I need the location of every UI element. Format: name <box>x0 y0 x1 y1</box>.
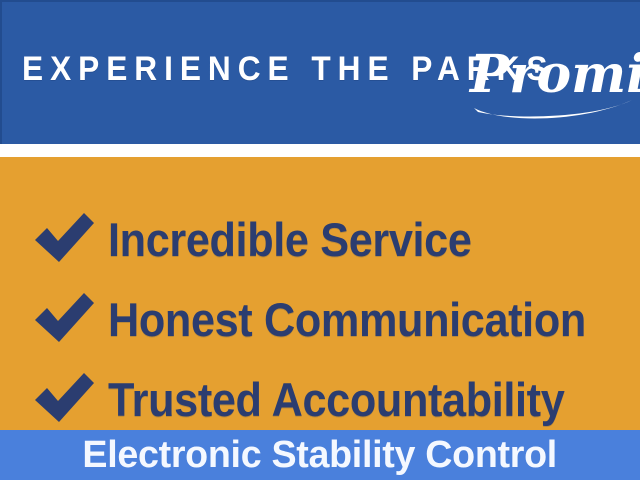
banner-headline-script-wrap: Promise <box>464 38 640 124</box>
promise-item: Honest Communication <box>0 279 640 359</box>
promise-item: Incredible Service <box>0 199 640 279</box>
check-icon <box>28 291 100 347</box>
promise-list: Incredible Service Honest Communication … <box>0 157 640 430</box>
check-icon <box>28 371 100 427</box>
video-frame: EXPERIENCE THE PARKS Promise Incredible … <box>0 0 640 480</box>
check-icon <box>28 211 100 267</box>
promise-item: Trusted Accountability <box>0 359 640 430</box>
promise-item-label: Honest Communication <box>108 296 586 343</box>
caption-bar: Electronic Stability Control <box>0 430 640 480</box>
banner-divider <box>0 144 640 157</box>
banner-headline-script: Promise <box>468 44 640 105</box>
caption-text: Electronic Stability Control <box>83 435 558 475</box>
promise-item-label: Incredible Service <box>108 216 472 263</box>
promise-item-label: Trusted Accountability <box>108 376 564 423</box>
brand-banner: EXPERIENCE THE PARKS Promise <box>0 0 640 144</box>
